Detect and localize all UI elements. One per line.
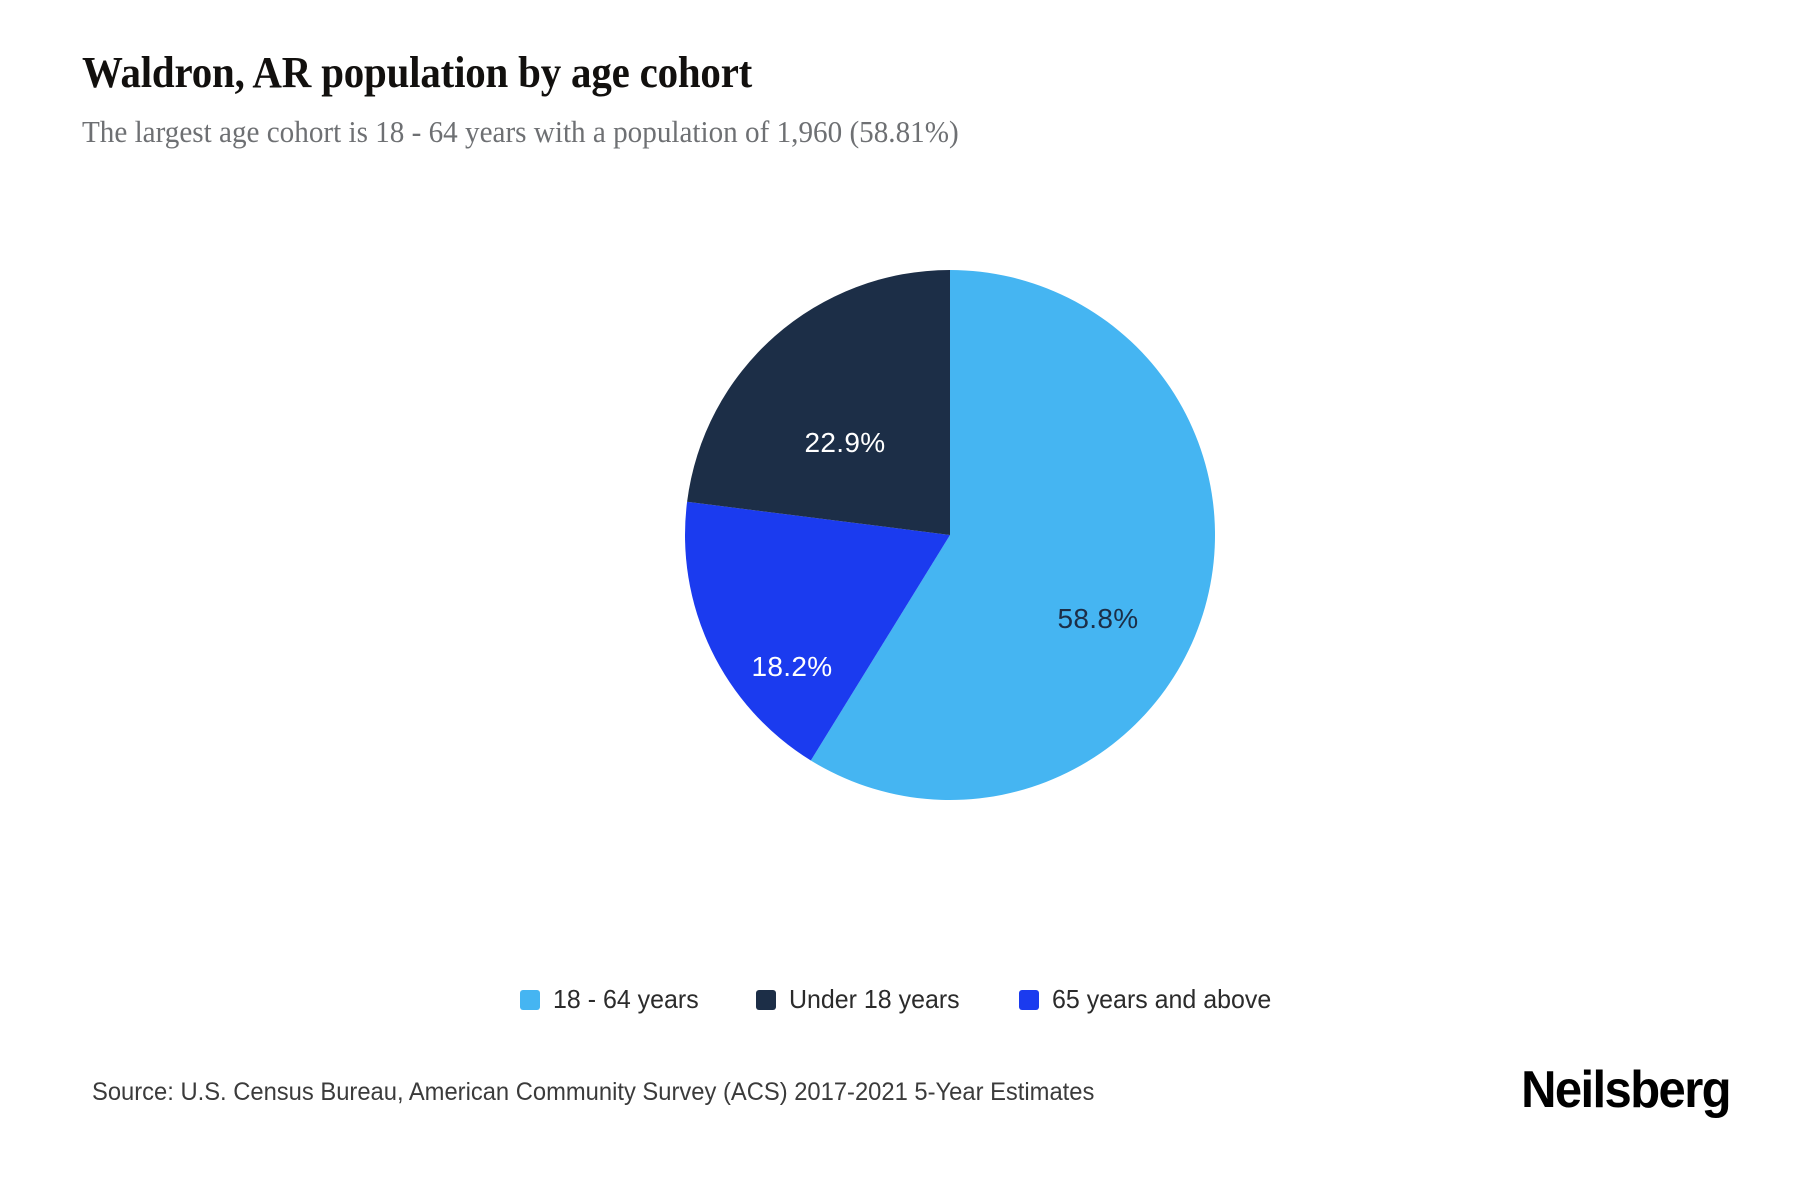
- pie-slice[interactable]: [687, 270, 950, 535]
- pie-slice-label: 22.9%: [805, 427, 886, 458]
- source-note: Source: U.S. Census Bureau, American Com…: [92, 1078, 1094, 1107]
- pie-slice-group: [685, 270, 1215, 800]
- pie-chart: 58.8%18.2%22.9%: [0, 0, 1800, 1200]
- pie-slice[interactable]: [811, 270, 1215, 800]
- chart-legend: 18 - 64 yearsUnder 18 years65 years and …: [0, 984, 1800, 1015]
- pie-label-group: 58.8%18.2%22.9%: [752, 427, 1139, 682]
- chart-header: Waldron, AR population by age cohort The…: [82, 48, 1722, 150]
- legend-swatch-icon: [520, 990, 540, 1010]
- page-title: Waldron, AR population by age cohort: [82, 48, 1607, 97]
- pie-slice[interactable]: [685, 502, 950, 761]
- legend-swatch-icon: [756, 990, 776, 1010]
- pie-slice-label: 18.2%: [752, 651, 833, 682]
- chart-subtitle: The largest age cohort is 18 - 64 years …: [82, 113, 1624, 150]
- brand-logo: Neilsberg: [1521, 1060, 1730, 1119]
- legend-item[interactable]: 65 years and above: [1019, 984, 1280, 1015]
- pie-slice-label: 58.8%: [1058, 603, 1139, 634]
- legend-item-label: 18 - 64 years: [553, 984, 699, 1015]
- legend-item[interactable]: Under 18 years: [756, 984, 967, 1015]
- legend-item-label: Under 18 years: [789, 984, 960, 1015]
- legend-item-label: 65 years and above: [1052, 984, 1271, 1015]
- legend-item[interactable]: 18 - 64 years: [520, 984, 705, 1015]
- legend-swatch-icon: [1019, 990, 1039, 1010]
- pie-chart-svg: 58.8%18.2%22.9%: [0, 0, 1800, 1200]
